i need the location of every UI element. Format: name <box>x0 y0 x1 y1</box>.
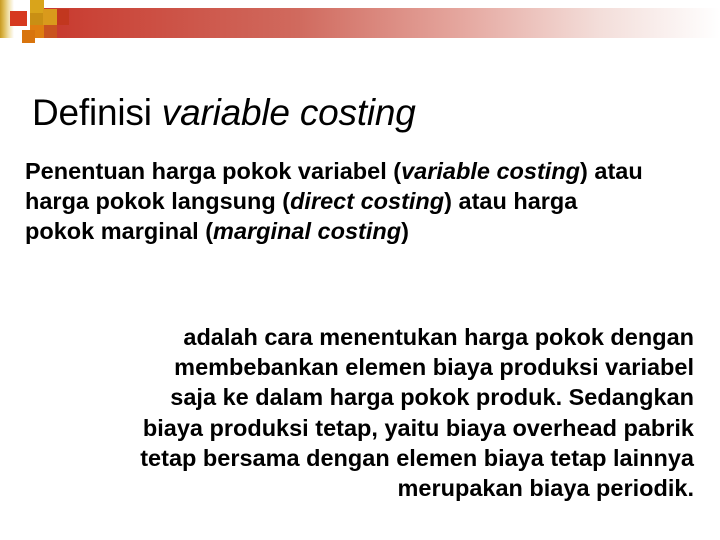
ornament-square-orange-low <box>22 30 35 43</box>
ornament-square-orange-a <box>30 25 45 38</box>
explanation-line-5: merupakan biaya periodik. <box>20 473 694 503</box>
definition-term-segment-3: direct costing <box>290 188 444 214</box>
page-title: Definisi variable costing <box>32 93 692 134</box>
ornament-left-gradient-strip <box>0 0 14 38</box>
ornament-square-gold-mid <box>30 13 43 25</box>
definition-term-segment-6: ) <box>401 218 409 244</box>
definition-terms-paragraph: Penentuan harga pokok variabel (variable… <box>25 156 645 247</box>
ornament-square-gold-right <box>43 9 57 25</box>
slide-canvas: Definisi variable costing Penentuan harg… <box>0 0 720 540</box>
ornament-square-gold-top <box>30 0 44 13</box>
explanation-line-1: membebankan elemen biaya produksi variab… <box>20 352 694 382</box>
explanation-line-3: biaya produksi tetap, yaitu biaya overhe… <box>20 413 694 443</box>
header-ornament <box>0 0 720 52</box>
explanation-line-4: tetap bersama dengan elemen biaya tetap … <box>20 443 694 473</box>
definition-explanation-paragraph: adalah cara menentukan harga pokok denga… <box>20 322 694 503</box>
page-title-italic: variable costing <box>162 92 416 133</box>
ornament-square-red <box>10 11 27 26</box>
explanation-line-0: adalah cara menentukan harga pokok denga… <box>20 322 694 352</box>
definition-term-segment-5: marginal costing <box>213 218 401 244</box>
ornament-red-gradient-bar <box>40 8 720 38</box>
definition-term-segment-0: Penentuan harga pokok variabel ( <box>25 158 401 184</box>
explanation-line-2: saja ke dalam harga pokok produk. Sedang… <box>20 382 694 412</box>
definition-term-segment-1: variable costing <box>401 158 580 184</box>
ornament-square-orange-b <box>44 25 57 38</box>
ornament-square-dark-red <box>57 9 69 25</box>
page-title-plain: Definisi <box>32 92 162 133</box>
